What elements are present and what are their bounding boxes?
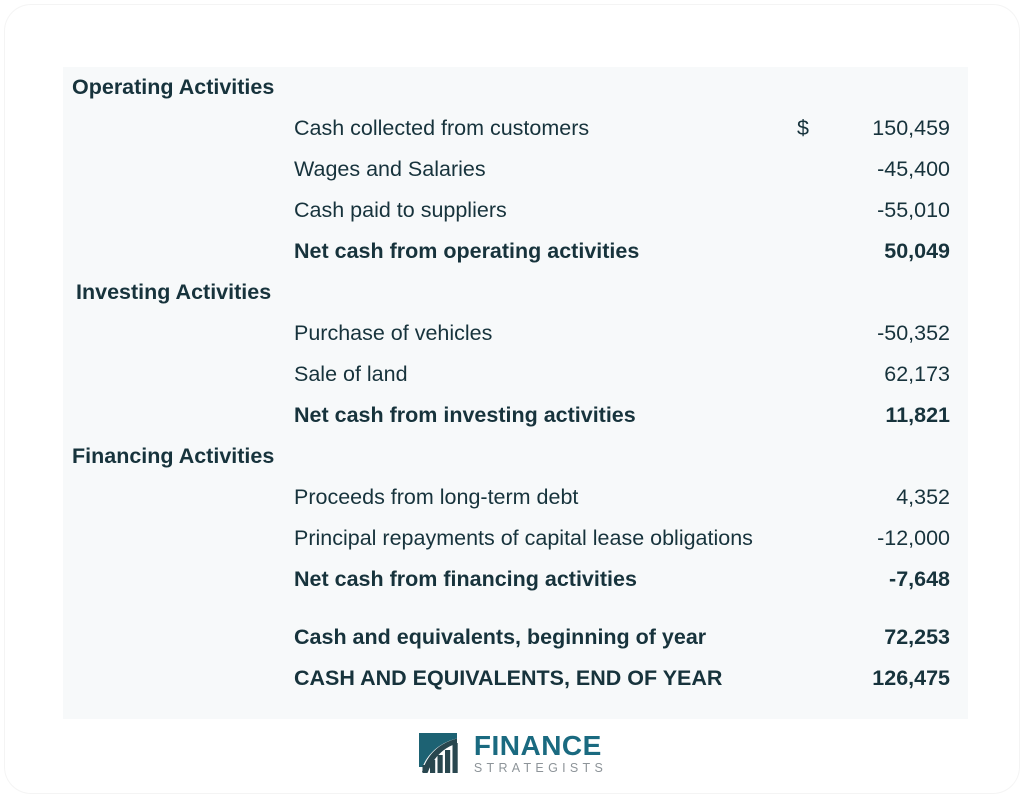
finance-strategists-logo-icon (417, 731, 465, 775)
line-item-row: Cash collected from customers$150,459 (63, 108, 968, 149)
line-item-label-cell: Purchase of vehicles (63, 313, 793, 354)
section-heading-label: Financing Activities (72, 444, 274, 469)
line-item-label-cell: Cash paid to suppliers (63, 190, 793, 231)
logo-primary-text: FINANCE (474, 732, 607, 760)
amount-cell: -45,400 (831, 149, 968, 190)
amount-cell: -50,352 (831, 313, 968, 354)
currency-symbol-cell (793, 149, 831, 190)
section-heading-row: Operating Activities (63, 67, 968, 108)
section-heading-row: Investing Activities (63, 272, 968, 313)
line-item-label-cell: Proceeds from long-term debt (63, 477, 793, 518)
currency-symbol-cell (793, 559, 831, 600)
amount-cell (831, 272, 968, 313)
currency-symbol-cell (793, 658, 831, 699)
currency-symbol-cell (793, 231, 831, 272)
amount-cell: 50,049 (831, 231, 968, 272)
total-row: Net cash from operating activities50,049 (63, 231, 968, 272)
amount-cell: -55,010 (831, 190, 968, 231)
line-item-label: Wages and Salaries (294, 157, 486, 182)
cash-flow-statement-panel: Operating ActivitiesCash collected from … (63, 67, 968, 719)
currency-symbol-cell (793, 518, 831, 559)
line-item-label: Cash paid to suppliers (294, 198, 507, 223)
amount-cell: -7,648 (831, 559, 968, 600)
line-item-row: Wages and Salaries-45,400 (63, 149, 968, 190)
currency-symbol-cell (793, 67, 831, 108)
cash-flow-table-body: Operating ActivitiesCash collected from … (63, 67, 968, 699)
currency-symbol-cell (793, 617, 831, 658)
line-item-row: Principal repayments of capital lease ob… (63, 518, 968, 559)
amount-cell: 72,253 (831, 617, 968, 658)
amount-cell: 11,821 (831, 395, 968, 436)
line-item-label-cell: CASH AND EQUIVALENTS, END OF YEAR (63, 658, 793, 699)
line-item-label: Cash collected from customers (294, 116, 589, 141)
logo-wordmark: FINANCE STRATEGISTS (474, 732, 607, 775)
currency-symbol-cell (793, 395, 831, 436)
line-item-label: Purchase of vehicles (294, 321, 492, 346)
line-item-label-cell: Net cash from operating activities (63, 231, 793, 272)
line-item-label: Cash and equivalents, beginning of year (294, 625, 706, 650)
line-item-row: Purchase of vehicles-50,352 (63, 313, 968, 354)
amount-cell: 62,173 (831, 354, 968, 395)
section-heading-label: Investing Activities (76, 280, 271, 305)
currency-symbol-cell (793, 190, 831, 231)
line-item-row: Proceeds from long-term debt4,352 (63, 477, 968, 518)
line-item-label-cell: Cash and equivalents, beginning of year (63, 617, 793, 658)
brand-logo: FINANCE STRATEGISTS (5, 731, 1019, 775)
currency-symbol-cell (793, 313, 831, 354)
section-heading-cell: Financing Activities (63, 436, 793, 477)
spacer-cell (63, 600, 968, 617)
line-item-label: Sale of land (294, 362, 408, 387)
section-heading-label: Operating Activities (72, 75, 274, 100)
line-item-label-cell: Net cash from financing activities (63, 559, 793, 600)
total-row: CASH AND EQUIVALENTS, END OF YEAR126,475 (63, 658, 968, 699)
total-row: Net cash from investing activities11,821 (63, 395, 968, 436)
line-item-label-cell: Principal repayments of capital lease ob… (63, 518, 793, 559)
line-item-label: Proceeds from long-term debt (294, 485, 578, 510)
page-card: Operating ActivitiesCash collected from … (5, 5, 1019, 793)
section-heading-cell: Investing Activities (63, 272, 793, 313)
currency-symbol-cell: $ (793, 108, 831, 149)
section-heading-row: Financing Activities (63, 436, 968, 477)
line-item-row: Sale of land62,173 (63, 354, 968, 395)
line-item-label: Net cash from operating activities (294, 239, 639, 264)
currency-symbol-cell (793, 354, 831, 395)
amount-cell (831, 436, 968, 477)
line-item-label-cell: Wages and Salaries (63, 149, 793, 190)
amount-cell (831, 67, 968, 108)
total-row: Cash and equivalents, beginning of year7… (63, 617, 968, 658)
currency-symbol-cell (793, 436, 831, 477)
line-item-label: Net cash from financing activities (294, 567, 637, 592)
amount-cell: 4,352 (831, 477, 968, 518)
total-row: Net cash from financing activities-7,648 (63, 559, 968, 600)
line-item-label-cell: Cash collected from customers (63, 108, 793, 149)
line-item-label: CASH AND EQUIVALENTS, END OF YEAR (294, 666, 722, 691)
section-heading-cell: Operating Activities (63, 67, 793, 108)
line-item-label-cell: Net cash from investing activities (63, 395, 793, 436)
amount-cell: 126,475 (831, 658, 968, 699)
cash-flow-table: Operating ActivitiesCash collected from … (63, 67, 968, 699)
currency-symbol-cell (793, 272, 831, 313)
amount-cell: -12,000 (831, 518, 968, 559)
line-item-row: Cash paid to suppliers-55,010 (63, 190, 968, 231)
currency-symbol-cell (793, 477, 831, 518)
spacer-row (63, 600, 968, 617)
line-item-label-cell: Sale of land (63, 354, 793, 395)
amount-cell: 150,459 (831, 108, 968, 149)
logo-secondary-text: STRATEGISTS (474, 762, 607, 775)
line-item-label: Net cash from investing activities (294, 403, 636, 428)
line-item-label: Principal repayments of capital lease ob… (294, 526, 753, 551)
